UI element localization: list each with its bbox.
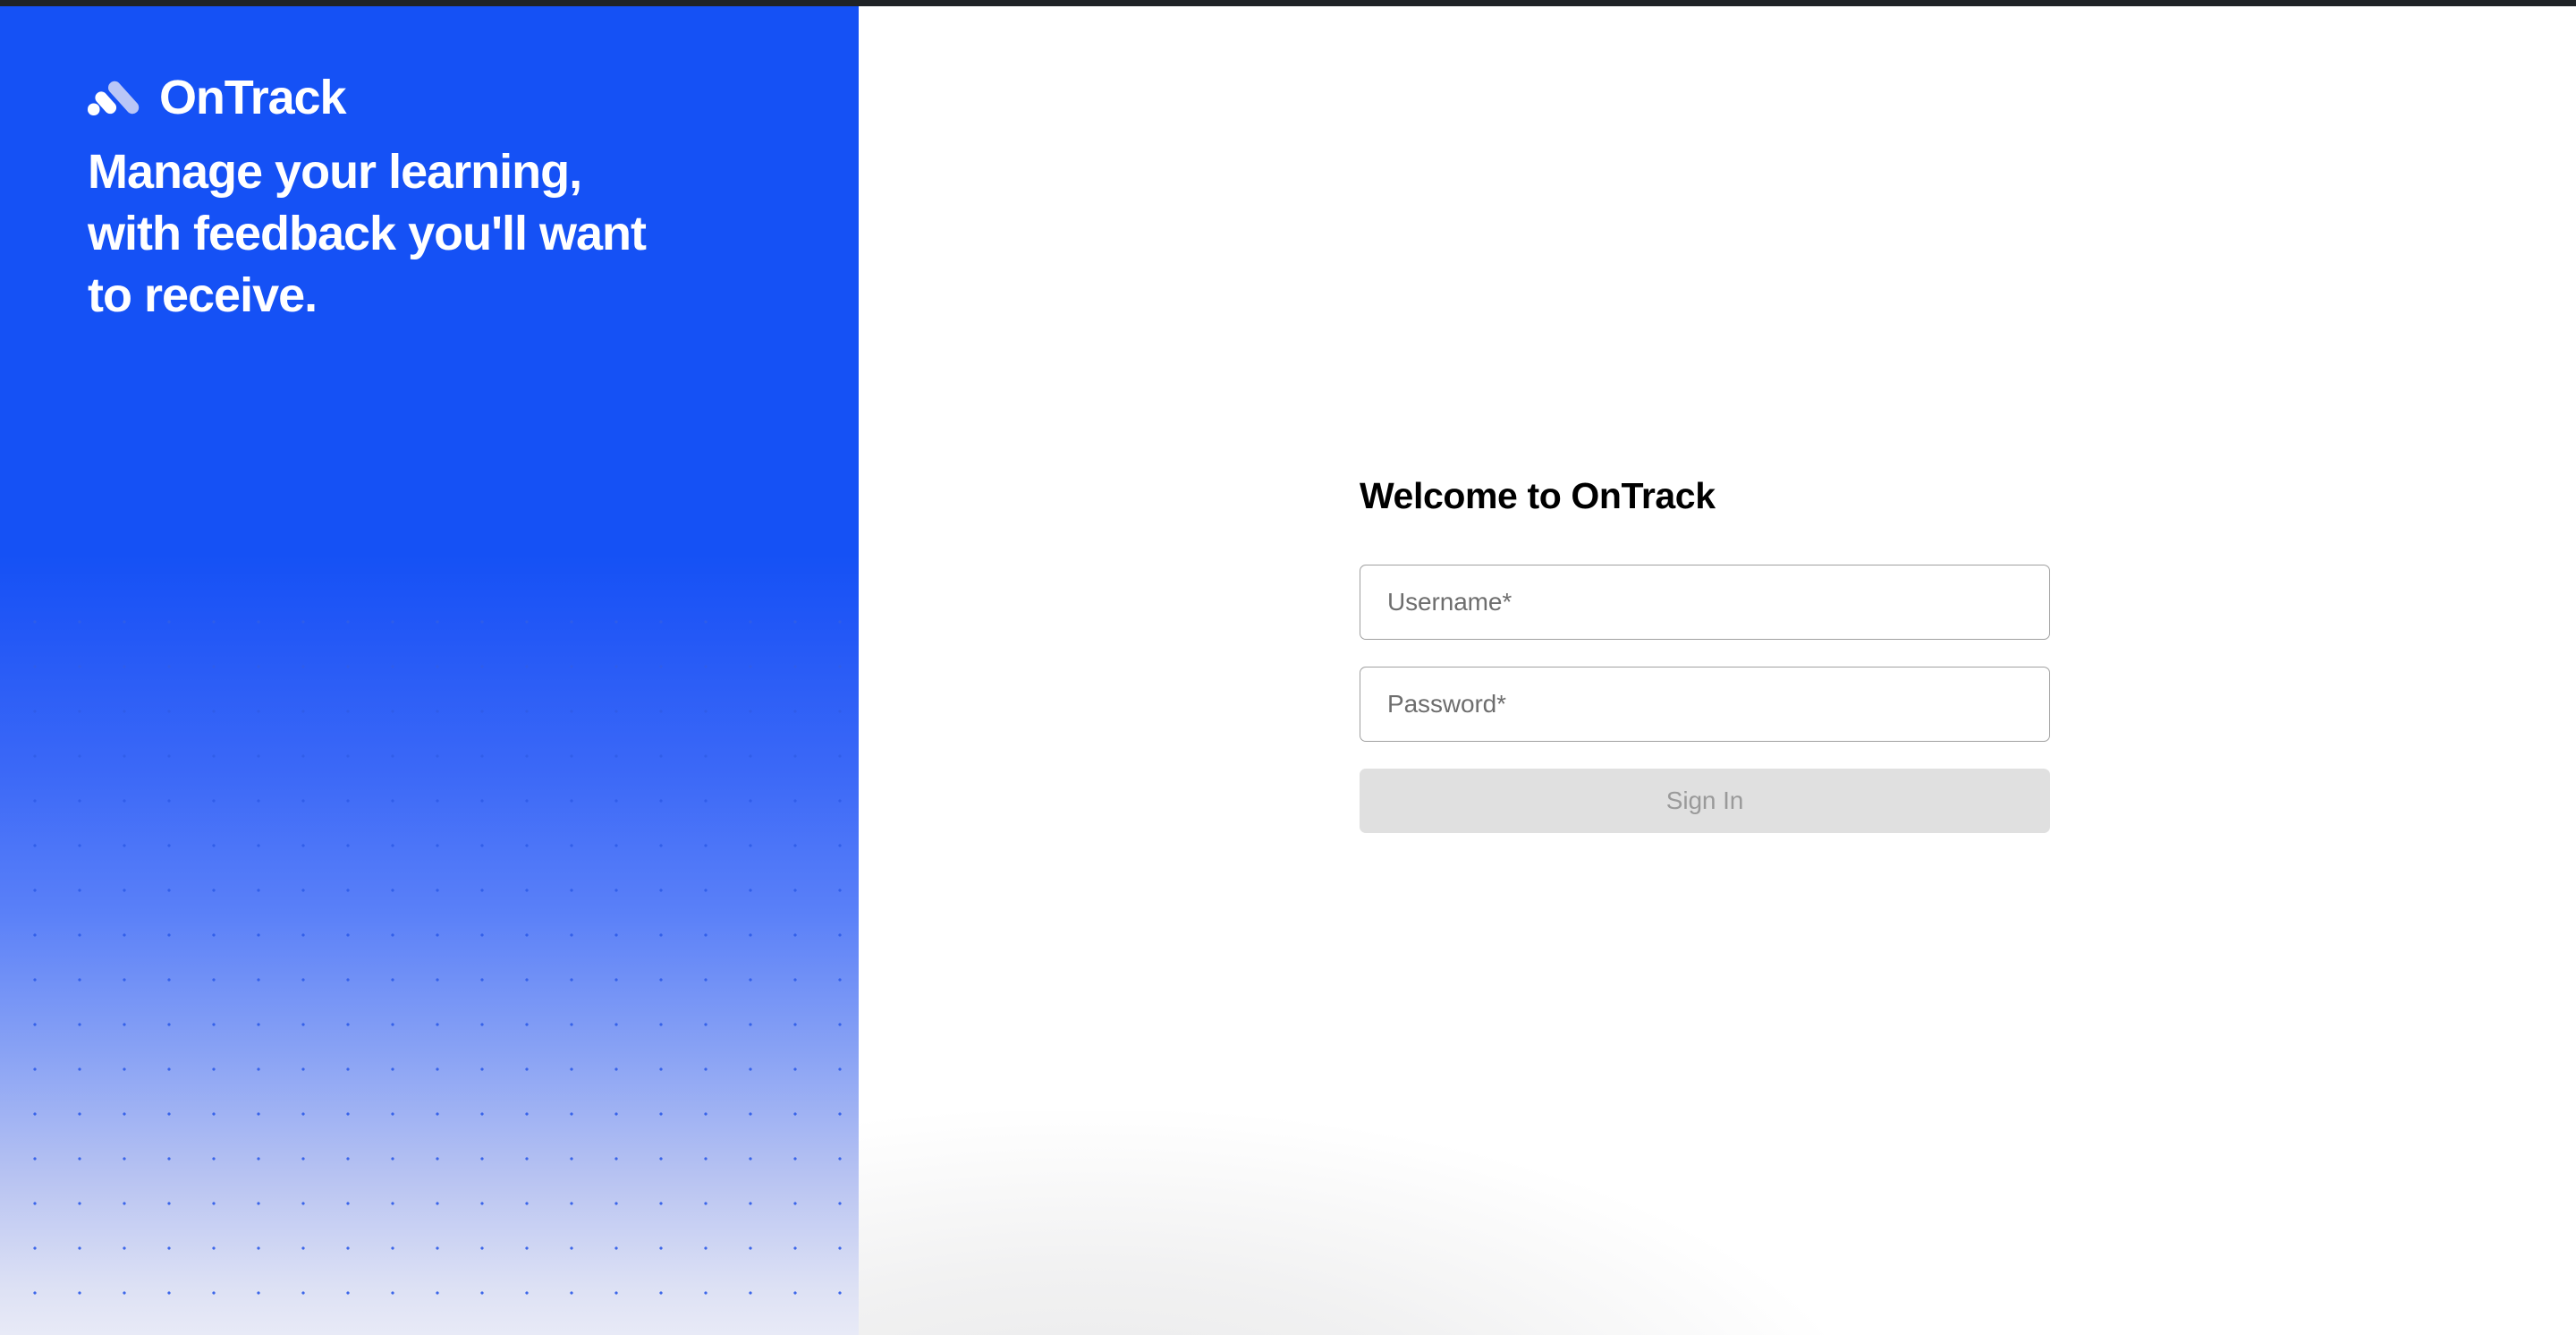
brand-content: OnTrack Manage your learning, with feedb… bbox=[88, 73, 794, 327]
sign-in-button[interactable]: Sign In bbox=[1360, 769, 2050, 833]
brand-wordmark: OnTrack bbox=[159, 73, 345, 122]
brand-panel: OnTrack Manage your learning, with feedb… bbox=[0, 0, 859, 1335]
brand-logo: OnTrack bbox=[88, 73, 794, 122]
tagline-line-3: to receive. bbox=[88, 265, 794, 327]
login-form: Welcome to OnTrack Sign In bbox=[1360, 474, 2050, 833]
username-field[interactable] bbox=[1360, 565, 2050, 640]
password-input[interactable] bbox=[1387, 690, 2022, 719]
form-panel: Welcome to OnTrack Sign In bbox=[859, 0, 2576, 1335]
username-input[interactable] bbox=[1387, 588, 2022, 616]
brand-tagline: Manage your learning, with feedback you'… bbox=[88, 141, 794, 327]
background-vignette bbox=[859, 1111, 1869, 1335]
dot-grid-pattern bbox=[0, 591, 859, 1335]
tagline-line-2: with feedback you'll want bbox=[88, 203, 794, 265]
password-field[interactable] bbox=[1360, 667, 2050, 742]
tagline-line-1: Manage your learning, bbox=[88, 141, 794, 203]
page-title: Welcome to OnTrack bbox=[1360, 474, 2050, 518]
login-page: OnTrack Manage your learning, with feedb… bbox=[0, 0, 2576, 1335]
browser-chrome-strip bbox=[0, 0, 2576, 6]
ontrack-bars-logo-icon bbox=[88, 79, 145, 116]
